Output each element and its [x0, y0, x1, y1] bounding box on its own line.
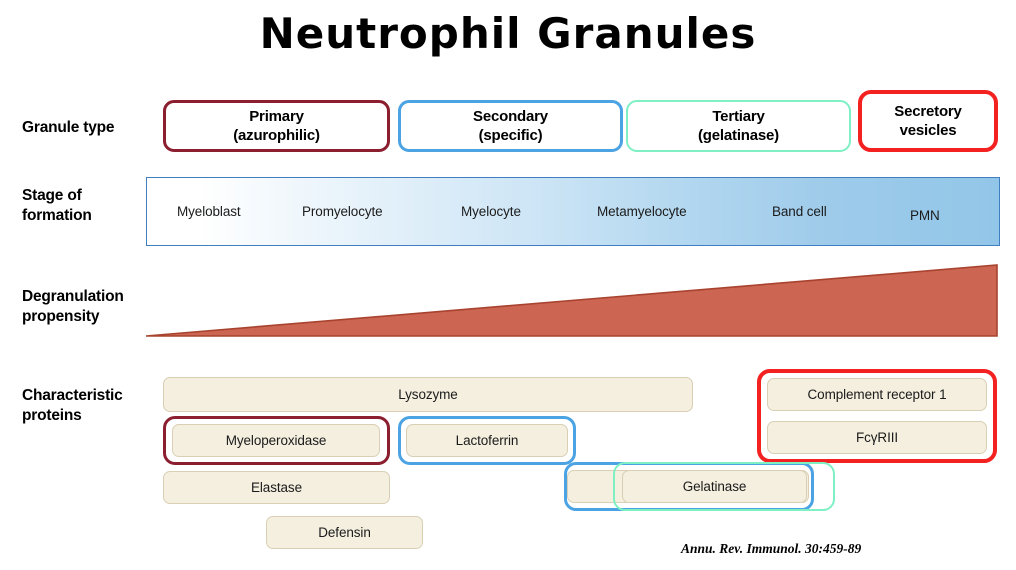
protein-box-gelatinase[interactable]: Gelatinase	[622, 470, 807, 503]
row-label-stage-line1: Stage of	[22, 186, 152, 206]
granule-box-tertiary-line2: (gelatinase)	[698, 126, 779, 145]
diagram-canvas: Neutrophil Granules Granule type Primary…	[0, 0, 1016, 570]
row-label-degranulation: Degranulation propensity	[22, 287, 162, 327]
row-label-degranulation-line1: Degranulation	[22, 287, 162, 307]
degranulation-wedge-svg	[146, 258, 1002, 348]
granule-box-primary-line1: Primary	[233, 107, 320, 126]
wedge-shape	[146, 265, 997, 336]
protein-box-elastase[interactable]: Elastase	[163, 471, 390, 504]
granule-box-secretory-line2: vesicles	[894, 121, 961, 140]
stage-label-myelocyte: Myelocyte	[461, 204, 521, 219]
degranulation-propensity-wedge	[146, 258, 1002, 348]
page-title: Neutrophil Granules	[0, 8, 1016, 60]
row-label-granule-type-line1: Granule type	[22, 119, 114, 136]
stage-label-promyelocyte: Promyelocyte	[302, 204, 383, 219]
granule-box-primary[interactable]: Primary (azurophilic)	[163, 100, 390, 152]
row-label-stage: Stage of formation	[22, 186, 152, 226]
stage-of-formation-band: Myeloblast Promyelocyte Myelocyte Metamy…	[146, 177, 1000, 246]
row-label-proteins-line1: Characteristic	[22, 386, 162, 406]
stage-label-metamyelocyte: Metamyelocyte	[597, 204, 686, 219]
granule-box-secondary-line1: Secondary	[473, 107, 548, 126]
protein-box-myeloperoxidase[interactable]: Myeloperoxidase	[172, 424, 380, 457]
protein-box-lysozyme[interactable]: Lysozyme	[163, 377, 693, 412]
granule-box-secretory[interactable]: Secretory vesicles	[858, 90, 998, 152]
granule-box-secondary-line2: (specific)	[473, 126, 548, 145]
protein-box-fc-gamma-r3[interactable]: FcγRIII	[767, 421, 987, 454]
granule-box-secretory-line1: Secretory	[894, 102, 961, 121]
row-label-stage-line2: formation	[22, 206, 152, 226]
protein-box-complement-receptor-1[interactable]: Complement receptor 1	[767, 378, 987, 411]
row-label-proteins-line2: proteins	[22, 406, 162, 426]
protein-box-defensin[interactable]: Defensin	[266, 516, 423, 549]
stage-label-myeloblast: Myeloblast	[177, 204, 241, 219]
protein-box-lactoferrin[interactable]: Lactoferrin	[406, 424, 568, 457]
granule-box-primary-line2: (azurophilic)	[233, 126, 320, 145]
citation: Annu. Rev. Immunol. 30:459-89	[681, 541, 861, 557]
granule-box-secondary[interactable]: Secondary (specific)	[398, 100, 623, 152]
stage-label-pmn: PMN	[910, 208, 940, 223]
granule-box-tertiary-line1: Tertiary	[698, 107, 779, 126]
row-label-granule-type: Granule type	[22, 118, 152, 138]
row-label-degranulation-line2: propensity	[22, 307, 162, 327]
stage-label-band-cell: Band cell	[772, 204, 827, 219]
granule-box-tertiary[interactable]: Tertiary (gelatinase)	[626, 100, 851, 152]
row-label-proteins: Characteristic proteins	[22, 386, 162, 426]
